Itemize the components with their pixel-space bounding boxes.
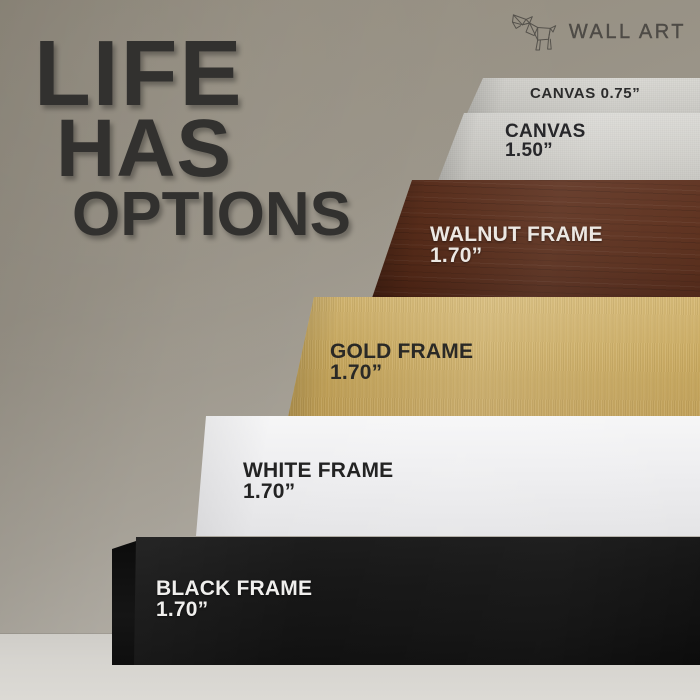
label-white-frame-depth: 1.70” <box>243 481 393 502</box>
poster-canvas: CANVAS 0.75” CANVAS 1.50” WALNUT FRAME 1… <box>0 0 700 700</box>
headline-line-3: OPTIONS <box>72 188 351 241</box>
label-black-frame: BLACK FRAME 1.70” <box>156 578 312 621</box>
label-white-frame: WHITE FRAME 1.70” <box>243 460 393 503</box>
label-white-frame-title: WHITE FRAME <box>243 460 393 481</box>
label-gold-frame-depth: 1.70” <box>330 362 473 383</box>
layer-black-frame-side-face <box>112 541 136 665</box>
label-walnut-frame-depth: 1.70” <box>430 245 603 266</box>
label-canvas-075: CANVAS 0.75” <box>530 86 640 101</box>
label-black-frame-depth: 1.70” <box>156 599 312 620</box>
label-walnut-frame-title: WALNUT FRAME <box>430 224 603 245</box>
label-walnut-frame: WALNUT FRAME 1.70” <box>430 224 603 267</box>
brand-name: WALL ART <box>569 21 686 44</box>
label-gold-frame-title: GOLD FRAME <box>330 341 473 362</box>
label-canvas-150: CANVAS 1.50” <box>505 122 586 161</box>
label-canvas-150-title: CANVAS <box>505 122 586 141</box>
headline-line-2: HAS <box>56 114 351 185</box>
origami-goat-icon <box>508 12 562 52</box>
label-canvas-075-title: CANVAS 0.75” <box>530 86 640 101</box>
label-gold-frame: GOLD FRAME 1.70” <box>330 341 473 384</box>
label-canvas-150-depth: 1.50” <box>505 141 586 160</box>
headline-block: LIFE HAS OPTIONS <box>34 34 351 242</box>
headline-line-1: LIFE <box>34 34 351 114</box>
brand-logo[interactable]: WALL ART <box>508 12 686 52</box>
label-black-frame-title: BLACK FRAME <box>156 578 312 599</box>
